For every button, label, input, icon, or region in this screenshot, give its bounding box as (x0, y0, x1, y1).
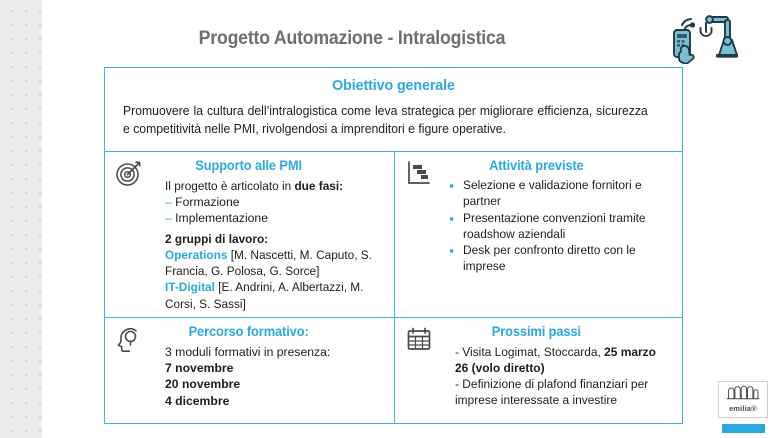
list-item: ▪Selezione e validazione fornitori e par… (449, 178, 666, 210)
activity-label: Selezione e validazione fornitori e part… (463, 178, 662, 210)
training-date: 7 novembre (165, 360, 384, 376)
pmi-intro-bold: due fasi: (294, 179, 343, 193)
activity-label: Desk per confronto diretto con le impres… (463, 243, 662, 275)
pmi-intro-plain: Il progetto è articolato in (165, 179, 294, 193)
logo-word-text: emilia (729, 404, 751, 413)
training-date: 4 dicembre (165, 393, 384, 409)
pmi-support-card: Supporto alle PMI Il progetto è articola… (105, 152, 395, 317)
list-item: - Visita Logimat, Stoccarda, 25 marzo 26… (455, 344, 664, 376)
pmi-groups-heading: 2 gruppi di lavoro: (165, 231, 374, 247)
pmi-phase-row: – Formazione (165, 194, 380, 210)
dash-mark-icon: – (165, 211, 172, 225)
step-prefix: - Definizione di plafond finanziari per … (455, 377, 648, 407)
pmi-support-body: Il progetto è articolato in due fasi: – … (113, 178, 384, 312)
list-item: - Definizione di plafond finanziari per … (455, 376, 664, 408)
bullet-icon: ▪ (449, 211, 463, 243)
training-intro: 3 moduli formativi in presenza: (165, 344, 384, 360)
logo-accent-bar (722, 424, 765, 433)
dash-mark-icon: – (165, 195, 172, 209)
pmi-intro-line: Il progetto è articolato in due fasi: (165, 178, 374, 194)
activities-list: ▪Selezione e validazione fornitori e par… (403, 178, 670, 275)
next-steps-list: - Visita Logimat, Stoccarda, 25 marzo 26… (403, 344, 670, 408)
training-card: Percorso formativo: 3 moduli formativi i… (105, 318, 395, 423)
emilia-logo: emilia® (718, 381, 768, 418)
list-item: ▪Presentazione convenzioni tramite roads… (449, 211, 666, 243)
middle-band: Supporto alle PMI Il progetto è articola… (105, 152, 682, 318)
next-steps-title: Prossimi passi (410, 324, 663, 339)
pmi-phase-label: Formazione (175, 195, 239, 209)
bottom-band: Percorso formativo: 3 moduli formativi i… (105, 318, 682, 423)
content-frame: Obiettivo generale Promuovere la cultura… (104, 67, 683, 424)
pmi-group-row: Operations [M. Nascetti, M. Caputo, S. F… (165, 247, 374, 279)
pmi-group-name: IT-Digital (165, 280, 215, 294)
logo-wordmark: emilia® (719, 404, 767, 413)
pmi-group-row: IT-Digital [E. Andrini, A. Albertazzi, M… (165, 279, 374, 311)
page-title: Progetto Automazione - Intralogistica (64, 28, 641, 50)
pmi-group-name: Operations (165, 248, 227, 262)
dotted-pattern-strip (0, 0, 42, 438)
activities-card: Attività previste ▪Selezione e validazio… (395, 152, 682, 317)
objective-section: Obiettivo generale Promuovere la cultura… (105, 68, 682, 152)
pmi-phase-label: Implementazione (175, 211, 268, 225)
pmi-support-title: Supporto alle PMI (120, 158, 378, 173)
training-date: 20 novembre (165, 376, 384, 392)
slide-header: Progetto Automazione - Intralogistica (42, 0, 780, 68)
next-steps-card: Prossimi passi - Visita Logimat, Stoccar… (395, 318, 682, 423)
training-title: Percorso formativo: (120, 324, 378, 339)
activities-title: Attività previste (410, 158, 663, 173)
registered-mark: ® (751, 404, 757, 413)
objective-title: Obiettivo generale (137, 77, 651, 94)
robot-arm-mobile-wifi-icon (662, 8, 740, 64)
list-item: ▪Desk per confronto diretto con le impre… (449, 243, 666, 275)
bullet-icon: ▪ (449, 178, 463, 210)
people-group-icon (719, 384, 767, 405)
activity-label: Presentazione convenzioni tramite roadsh… (463, 211, 662, 243)
bullet-icon: ▪ (449, 243, 463, 275)
step-prefix: - Visita Logimat, Stoccarda, (455, 345, 604, 359)
objective-text: Promuovere la cultura dell’intralogistic… (123, 103, 648, 139)
training-body: 3 moduli formativi in presenza: 7 novemb… (113, 344, 384, 409)
pmi-phase-row: – Implementazione (165, 210, 380, 226)
